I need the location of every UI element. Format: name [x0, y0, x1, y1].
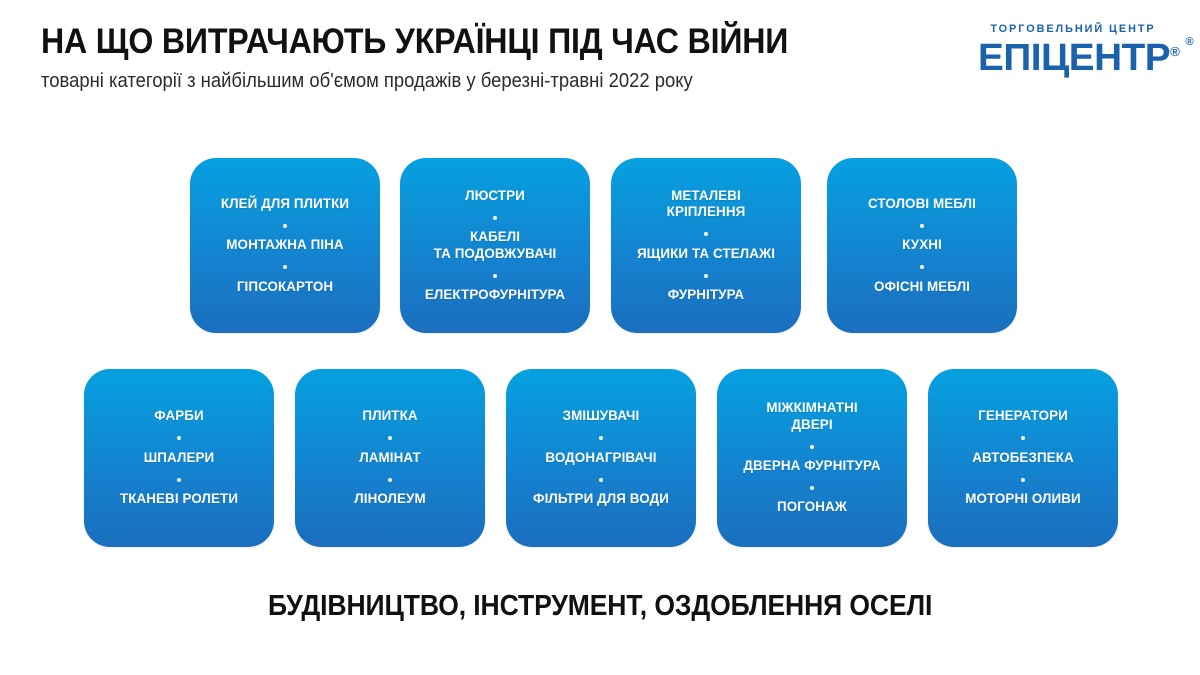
category-item: МЕТАЛЕВІ КРІПЛЕННЯ: [619, 188, 793, 221]
footer-caption-text: БУДІВНИЦТВО, ІНСТРУМЕНТ, ОЗДОБЛЕННЯ ОСЕЛ…: [268, 590, 932, 623]
category-card[interactable]: ЗМІШУВАЧІ ВОДОНАГРІВАЧІ ФІЛЬТРИ ДЛЯ ВОДИ: [506, 369, 696, 547]
category-item: КУХНІ: [835, 237, 1009, 253]
category-item: ЯЩИКИ ТА СТЕЛАЖІ: [619, 246, 793, 262]
category-item: ЛЮСТРИ: [408, 188, 582, 204]
category-item: ФІЛЬТРИ ДЛЯ ВОДИ: [514, 491, 688, 507]
bullet-separator-icon: [725, 480, 899, 493]
category-item: ФАРБИ: [92, 408, 266, 424]
card-content: МІЖКІМНАТНІ ДВЕРІ ДВЕРНА ФУРНІТУРА ПОГОН…: [725, 400, 899, 516]
bullet-separator-icon: [619, 268, 793, 281]
category-item: ПЛИТКА: [303, 408, 477, 424]
bullet-separator-icon: [198, 218, 372, 231]
category-item: ФУРНІТУРА: [619, 287, 793, 303]
category-card[interactable]: ПЛИТКА ЛАМІНАТ ЛІНОЛЕУМ: [295, 369, 485, 547]
category-item: ОФІСНІ МЕБЛІ: [835, 279, 1009, 295]
card-content: СТОЛОВІ МЕБЛІ КУХНІ ОФІСНІ МЕБЛІ: [835, 196, 1009, 295]
category-item: МІЖКІМНАТНІ ДВЕРІ: [725, 400, 899, 433]
card-content: КЛЕЙ ДЛЯ ПЛИТКИ МОНТАЖНА ПІНА ГІПСОКАРТО…: [198, 196, 372, 295]
category-item: КАБЕЛІ ТА ПОДОВЖУВАЧІ: [408, 229, 582, 262]
category-item: ШПАЛЕРИ: [92, 450, 266, 466]
bullet-separator-icon: [514, 431, 688, 444]
category-card[interactable]: ФАРБИ ШПАЛЕРИ ТКАНЕВІ РОЛЕТИ: [84, 369, 274, 547]
category-board: КЛЕЙ ДЛЯ ПЛИТКИ МОНТАЖНА ПІНА ГІПСОКАРТО…: [0, 0, 1200, 675]
category-item: ДВЕРНА ФУРНІТУРА: [725, 458, 899, 474]
category-item: ТКАНЕВІ РОЛЕТИ: [92, 491, 266, 507]
card-content: ЗМІШУВАЧІ ВОДОНАГРІВАЧІ ФІЛЬТРИ ДЛЯ ВОДИ: [514, 408, 688, 507]
category-item: ЛАМІНАТ: [303, 450, 477, 466]
category-item: МОНТАЖНА ПІНА: [198, 237, 372, 253]
bullet-separator-icon: [303, 431, 477, 444]
bullet-separator-icon: [408, 268, 582, 281]
footer-caption: БУДІВНИЦТВО, ІНСТРУМЕНТ, ОЗДОБЛЕННЯ ОСЕЛ…: [0, 590, 1200, 623]
category-card[interactable]: МІЖКІМНАТНІ ДВЕРІ ДВЕРНА ФУРНІТУРА ПОГОН…: [717, 369, 907, 547]
bullet-separator-icon: [936, 472, 1110, 485]
card-content: ЛЮСТРИ КАБЕЛІ ТА ПОДОВЖУВАЧІ ЕЛЕКТРОФУРН…: [408, 188, 582, 304]
card-content: ПЛИТКА ЛАМІНАТ ЛІНОЛЕУМ: [303, 408, 477, 507]
category-item: ЛІНОЛЕУМ: [303, 491, 477, 507]
bullet-separator-icon: [835, 260, 1009, 273]
category-card[interactable]: КЛЕЙ ДЛЯ ПЛИТКИ МОНТАЖНА ПІНА ГІПСОКАРТО…: [190, 158, 380, 333]
bullet-separator-icon: [936, 431, 1110, 444]
category-item: ЕЛЕКТРОФУРНІТУРА: [408, 287, 582, 303]
category-item: ЗМІШУВАЧІ: [514, 408, 688, 424]
card-content: ГЕНЕРАТОРИ АВТОБЕЗПЕКА МОТОРНІ ОЛИВИ: [936, 408, 1110, 507]
bullet-separator-icon: [92, 472, 266, 485]
card-content: ФАРБИ ШПАЛЕРИ ТКАНЕВІ РОЛЕТИ: [92, 408, 266, 507]
category-item: ГЕНЕРАТОРИ: [936, 408, 1110, 424]
category-item: МОТОРНІ ОЛИВИ: [936, 491, 1110, 507]
category-card[interactable]: ГЕНЕРАТОРИ АВТОБЕЗПЕКА МОТОРНІ ОЛИВИ: [928, 369, 1118, 547]
bullet-separator-icon: [725, 439, 899, 452]
category-item: ГІПСОКАРТОН: [198, 279, 372, 295]
category-item: КЛЕЙ ДЛЯ ПЛИТКИ: [198, 196, 372, 212]
bullet-separator-icon: [92, 431, 266, 444]
bullet-separator-icon: [198, 260, 372, 273]
category-card[interactable]: МЕТАЛЕВІ КРІПЛЕННЯ ЯЩИКИ ТА СТЕЛАЖІ ФУРН…: [611, 158, 801, 333]
category-card[interactable]: СТОЛОВІ МЕБЛІ КУХНІ ОФІСНІ МЕБЛІ: [827, 158, 1017, 333]
category-item: АВТОБЕЗПЕКА: [936, 450, 1110, 466]
category-item: ПОГОНАЖ: [725, 499, 899, 515]
bullet-separator-icon: [408, 210, 582, 223]
category-card[interactable]: ЛЮСТРИ КАБЕЛІ ТА ПОДОВЖУВАЧІ ЕЛЕКТРОФУРН…: [400, 158, 590, 333]
category-item: ВОДОНАГРІВАЧІ: [514, 450, 688, 466]
card-content: МЕТАЛЕВІ КРІПЛЕННЯ ЯЩИКИ ТА СТЕЛАЖІ ФУРН…: [619, 188, 793, 304]
bullet-separator-icon: [303, 472, 477, 485]
bullet-separator-icon: [619, 227, 793, 240]
bullet-separator-icon: [835, 218, 1009, 231]
bullet-separator-icon: [514, 472, 688, 485]
category-item: СТОЛОВІ МЕБЛІ: [835, 196, 1009, 212]
